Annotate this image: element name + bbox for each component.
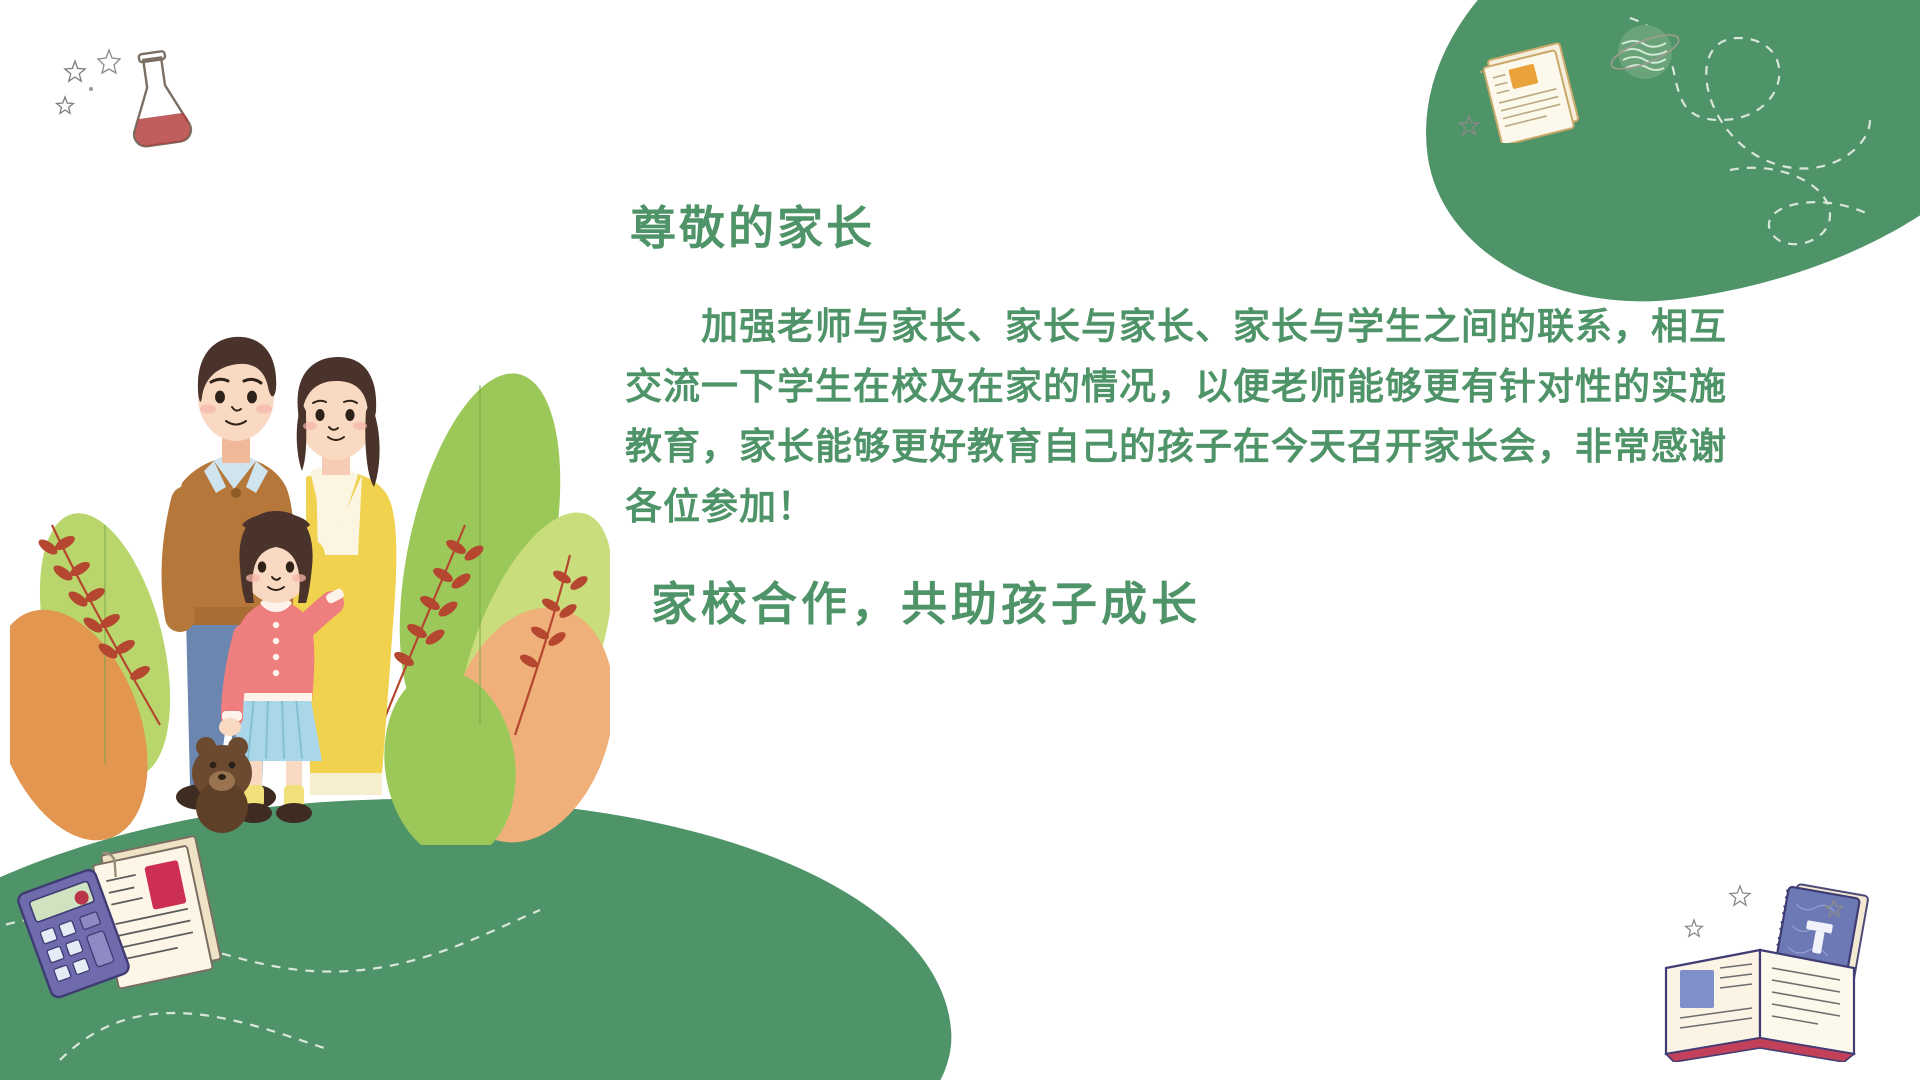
open-book-icon	[1648, 872, 1898, 1062]
star-icon	[1458, 115, 1480, 137]
calculator-icon	[10, 862, 140, 1002]
sparkle-icon	[45, 55, 105, 125]
closing-statement: 家校合作，共助孩子成长	[651, 581, 1745, 627]
slide-canvas: 尊敬的家长 加强老师与家长、家长与家长、家长与学生之间的联系，相互交流一下学生在…	[0, 0, 1920, 1080]
flask-icon	[95, 40, 225, 160]
family-illustration	[10, 225, 610, 845]
globe-icon	[1602, 10, 1688, 96]
newspaper-icon	[1480, 38, 1590, 143]
body-paragraph: 加强老师与家长、家长与家长、家长与学生之间的联系，相互交流一下学生在校及在家的情…	[625, 297, 1745, 537]
salutation-heading: 尊敬的家长	[630, 205, 1745, 251]
teddy-bear-toy	[192, 737, 252, 833]
text-column: 尊敬的家长 加强老师与家长、家长与家长、家长与学生之间的联系，相互交流一下学生在…	[625, 205, 1745, 627]
